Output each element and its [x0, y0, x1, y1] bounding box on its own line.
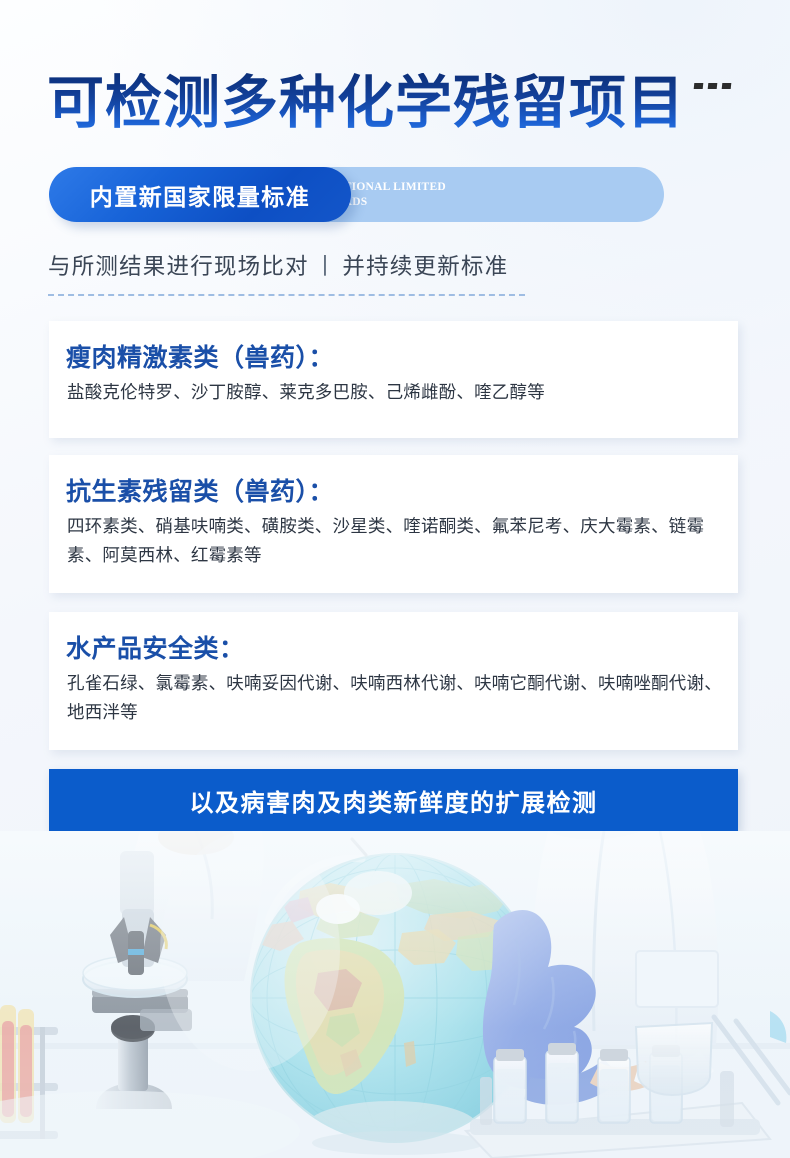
info-card-body: 孔雀石绿、氯霉素、呋喃妥因代谢、呋喃西林代谢、呋喃它酮代谢、呋喃唑酮代谢、地西泮… — [67, 669, 722, 727]
page-title: 可检测多种化学残留项目 — [47, 73, 685, 135]
badge-chinese-label: 内置新国家限量标准 — [90, 178, 311, 212]
info-card-title: 水产品安全类： — [66, 629, 245, 665]
subtitle-separator: 丨 — [309, 254, 343, 279]
ellipsis-mark-icon — [694, 83, 731, 89]
highlight-banner-text: 以及病害肉及肉类新鲜度的扩展检测 — [190, 783, 598, 818]
info-card-body: 盐酸克伦特罗、沙丁胺醇、莱克多巴胺、己烯雌酚、喹乙醇等 — [67, 378, 722, 407]
info-card: 抗生素残留类（兽药）： 四环素类、硝基呋喃类、磺胺类、沙星类、喹诺酮类、氟苯尼考… — [49, 455, 738, 593]
ellipsis-dot-3 — [722, 83, 732, 89]
ellipsis-dot-2 — [708, 83, 718, 89]
subtitle: 与所测结果进行现场比对丨并持续更新标准 — [48, 249, 508, 281]
promo-page: 可检测多种化学残留项目 BUILT IN NEW NATIONAL LIMITE… — [0, 0, 790, 1158]
info-card-body: 四环素类、硝基呋喃类、磺胺类、沙星类、喹诺酮类、氟苯尼考、庆大霉素、链霉素、阿莫… — [67, 512, 722, 570]
lab-photo — [0, 831, 790, 1158]
subtitle-right-text: 并持续更新标准 — [342, 254, 508, 279]
info-card: 水产品安全类： 孔雀石绿、氯霉素、呋喃妥因代谢、呋喃西林代谢、呋喃它酮代谢、呋喃… — [49, 612, 738, 750]
info-card: 瘦肉精激素类（兽药）： 盐酸克伦特罗、沙丁胺醇、莱克多巴胺、己烯雌酚、喹乙醇等 — [49, 321, 738, 438]
dashed-divider — [48, 294, 525, 296]
info-card-title: 瘦肉精激素类（兽药）： — [66, 338, 334, 374]
badge-group: BUILT IN NEW NATIONAL LIMITED EDITION ST… — [49, 167, 619, 222]
ellipsis-dot-1 — [694, 83, 704, 89]
lab-photo-illustration — [0, 831, 790, 1158]
subtitle-left-text: 与所测结果进行现场比对 — [48, 254, 309, 279]
info-card-title: 抗生素残留类（兽药）： — [66, 472, 334, 508]
highlight-banner: 以及病害肉及肉类新鲜度的扩展检测 — [49, 769, 738, 831]
badge-dark-pill: 内置新国家限量标准 — [49, 167, 351, 222]
